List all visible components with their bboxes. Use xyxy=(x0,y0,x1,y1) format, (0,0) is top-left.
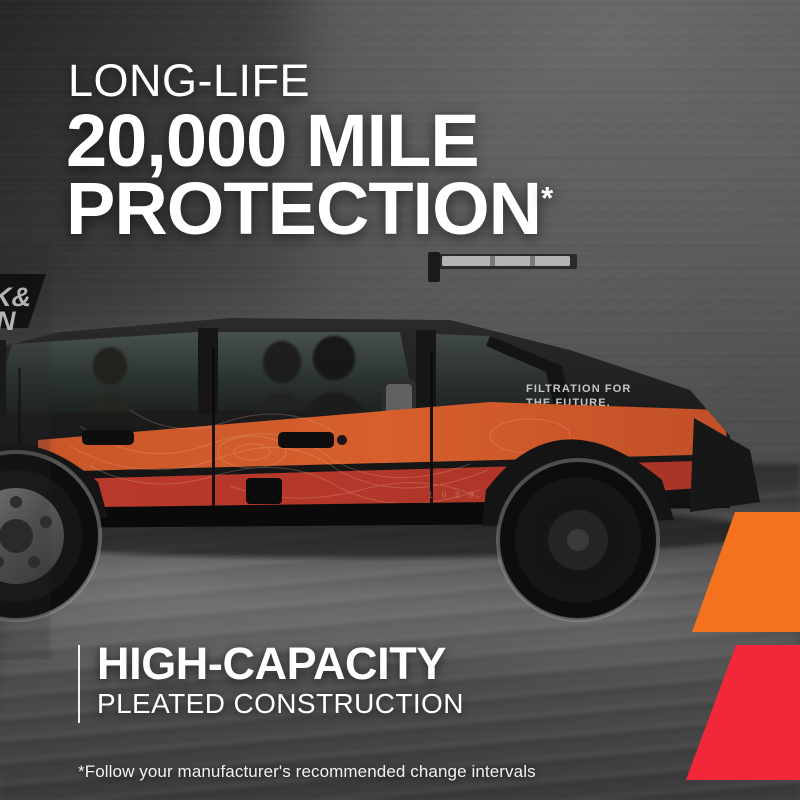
subheading-main: HIGH-CAPACITY xyxy=(97,641,464,687)
headline-line-2-text: PROTECTION xyxy=(66,167,541,250)
headline: 20,000 MILE PROTECTION* xyxy=(66,107,553,243)
ad-copy: LONG-LIFE 20,000 MILE PROTECTION* HIGH-C… xyxy=(0,0,800,800)
ad-creative: FILTRATION FOR THE FUTURE. xyxy=(0,0,800,800)
headline-line-1: 20,000 MILE xyxy=(66,107,553,175)
headline-asterisk: * xyxy=(541,180,553,215)
footnote-text: *Follow your manufacturer's recommended … xyxy=(78,762,536,782)
eyebrow-text: LONG-LIFE xyxy=(68,58,310,103)
subheading-secondary: PLEATED CONSTRUCTION xyxy=(97,689,464,718)
headline-line-2: PROTECTION* xyxy=(66,175,553,243)
vertical-rule-divider xyxy=(78,645,80,723)
subheading-block: HIGH-CAPACITY PLEATED CONSTRUCTION xyxy=(78,641,464,719)
